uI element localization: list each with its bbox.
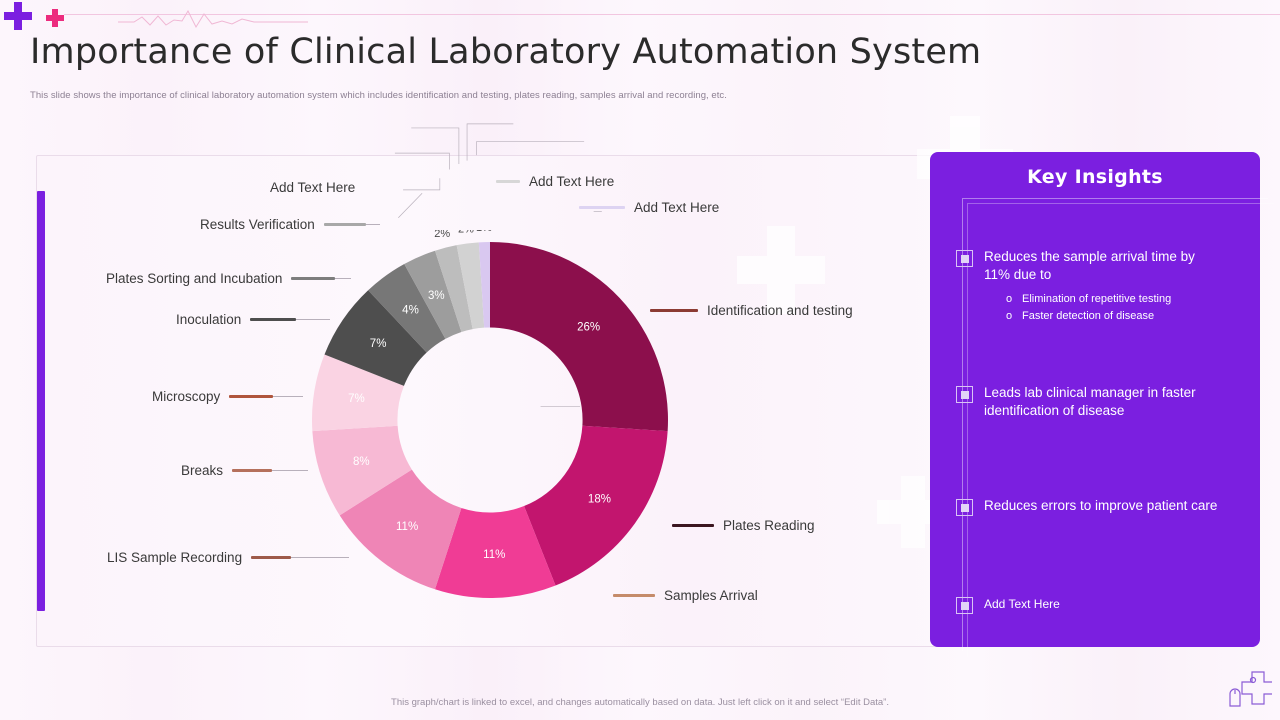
checkbox-icon[interactable] [956, 499, 973, 516]
insight-text: Reduces errors to improve patient care [984, 498, 1217, 513]
insight-item[interactable]: Reduces errors to improve patient care [956, 497, 1218, 516]
callout-label: Identification and testing [707, 304, 853, 318]
callout-add-text-here-2[interactable]: Add Text Here [496, 175, 614, 189]
callout-swatch [229, 395, 273, 398]
slice-percent-label: 1% [476, 230, 492, 234]
callout-label: Add Text Here [634, 201, 719, 215]
callout-swatch [579, 206, 625, 209]
donut-chart: 26%18%11%11%8%7%7%4%3%2%2%1% [300, 230, 680, 610]
donut-slice[interactable] [490, 242, 668, 431]
callout-label: Samples Arrival [664, 589, 758, 603]
callout-breaks[interactable]: Breaks [181, 464, 308, 478]
cross-outline-icon [1216, 666, 1272, 716]
callout-label: Microscopy [152, 390, 220, 404]
key-insights-panel: Key Insights Reduces the sample arrival … [930, 152, 1260, 647]
callout-microscopy[interactable]: Microscopy [152, 390, 303, 404]
callout-results-verification[interactable]: Results Verification [200, 218, 380, 232]
slice-percent-label: 4% [402, 305, 419, 317]
slice-percent-label: 2% [458, 230, 474, 235]
slice-percent-label: 7% [348, 393, 365, 405]
callout-plates-sorting-and-incubation[interactable]: Plates Sorting and Incubation [106, 272, 351, 286]
cross-icon [46, 9, 64, 27]
callout-swatch [672, 524, 714, 527]
slice-percent-label: 2% [434, 230, 450, 240]
callout-swatch [650, 309, 698, 312]
callout-label: Add Text Here [270, 181, 355, 195]
slice-percent-label: 3% [428, 290, 445, 302]
slice-percent-label: 18% [588, 494, 611, 506]
left-accent-bar [37, 191, 45, 611]
slice-percent-label: 8% [353, 456, 370, 468]
cross-icon [4, 2, 32, 30]
callout-swatch [324, 223, 366, 226]
donut-chart-svg: 26%18%11%11%8%7%7%4%3%2%2%1% [300, 230, 680, 610]
callout-swatch [613, 594, 655, 597]
page-subtitle: This slide shows the importance of clini… [30, 90, 950, 101]
callout-swatch [291, 277, 335, 280]
insight-item[interactable]: Add Text Here [956, 595, 1218, 614]
callout-add-text-here-1[interactable]: Add Text Here [270, 181, 364, 195]
insight-text: Add Text Here [984, 597, 1060, 611]
callout-swatch [232, 469, 272, 472]
callout-swatch [251, 556, 291, 559]
callout-plates-reading[interactable]: Plates Reading [672, 519, 815, 533]
callout-identification-and-testing[interactable]: Identification and testing [650, 304, 853, 318]
callout-lis-sample-recording[interactable]: LIS Sample Recording [107, 551, 349, 565]
callout-label: Plates Sorting and Incubation [106, 272, 282, 286]
insight-text: Reduces the sample arrival time by 11% d… [984, 249, 1195, 282]
callout-label: LIS Sample Recording [107, 551, 242, 565]
insight-text: Leads lab clinical manager in faster ide… [984, 385, 1196, 418]
heartbeat-line-icon [118, 8, 308, 30]
slice-percent-label: 7% [370, 338, 387, 350]
callout-swatch [496, 180, 520, 183]
callout-inoculation[interactable]: Inoculation [176, 313, 330, 327]
callout-add-text-here-3[interactable]: Add Text Here [579, 201, 719, 215]
panel-title: Key Insights [930, 166, 1260, 188]
insight-sublist: Elimination of repetitive testing Faster… [1006, 291, 1218, 325]
cross-watermark-icon [737, 226, 825, 314]
callout-label: Add Text Here [529, 175, 614, 189]
callout-label: Breaks [181, 464, 223, 478]
footer-note: This graph/chart is linked to excel, and… [0, 697, 1280, 708]
callout-samples-arrival[interactable]: Samples Arrival [613, 589, 758, 603]
slice-percent-label: 11% [483, 549, 505, 561]
callout-label: Results Verification [200, 218, 315, 232]
insight-item[interactable]: Reduces the sample arrival time by 11% d… [956, 248, 1218, 326]
callout-label: Plates Reading [723, 519, 815, 533]
slice-percent-label: 11% [396, 521, 418, 533]
insight-item[interactable]: Leads lab clinical manager in faster ide… [956, 384, 1218, 420]
checkbox-icon[interactable] [956, 597, 973, 614]
slice-percent-label: 26% [577, 321, 600, 333]
checkbox-icon[interactable] [956, 386, 973, 403]
checkbox-icon[interactable] [956, 250, 973, 267]
page-title: Importance of Clinical Laboratory Automa… [30, 32, 1030, 72]
callout-label: Inoculation [176, 313, 241, 327]
insight-subitem: Faster detection of disease [1006, 308, 1218, 325]
callout-swatch [250, 318, 296, 321]
insight-subitem: Elimination of repetitive testing [1006, 291, 1218, 308]
